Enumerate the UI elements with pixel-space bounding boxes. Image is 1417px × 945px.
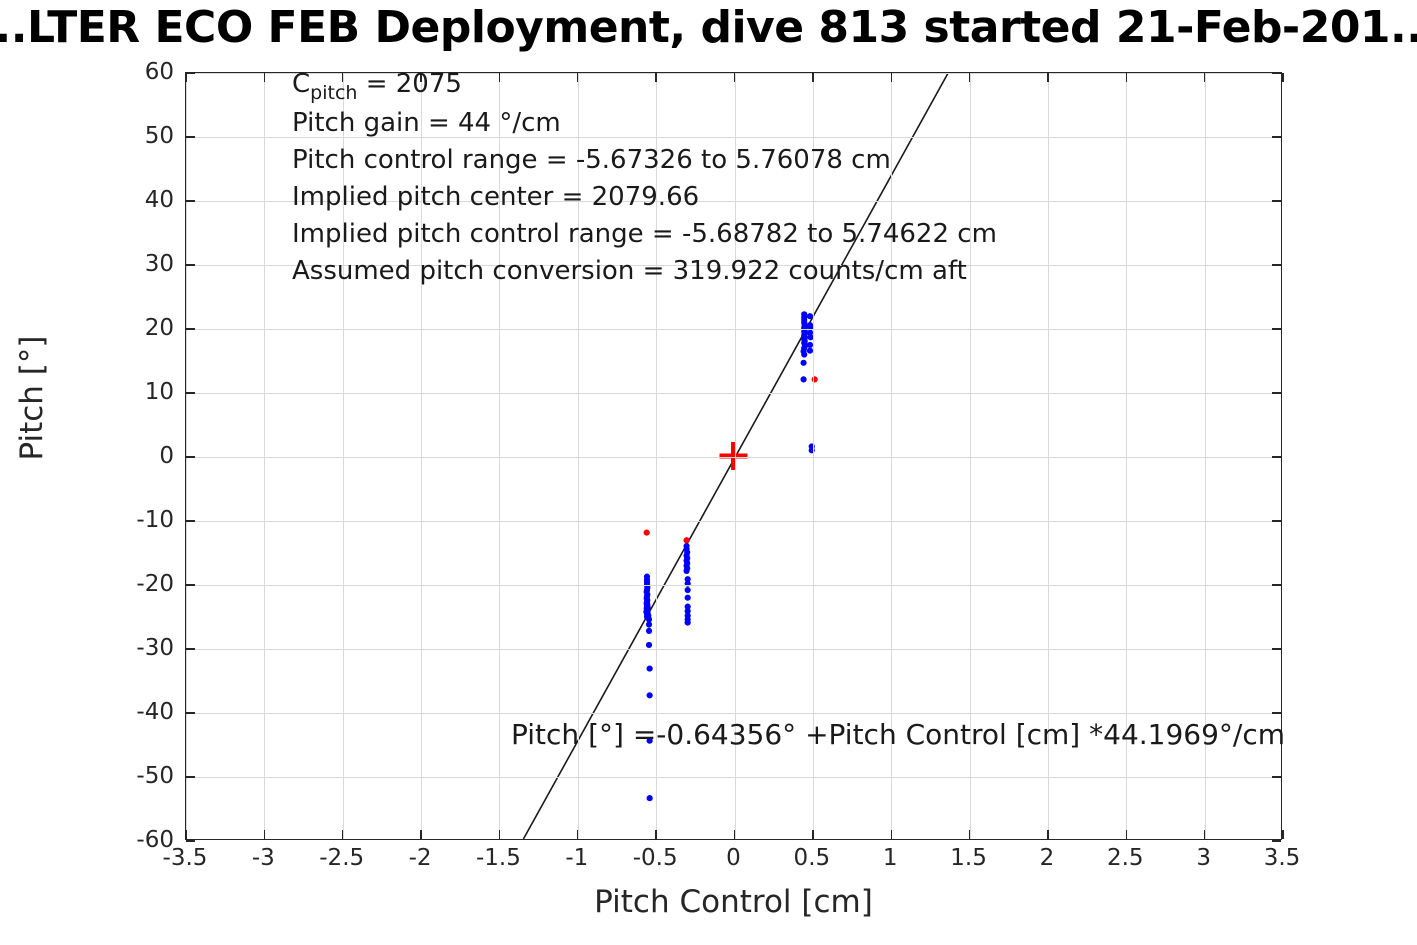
scatter-series: [643, 311, 815, 801]
y-axis-tick: [186, 328, 195, 329]
y-axis-tick-right: [1272, 456, 1281, 457]
x-axis-tick-label: 2.5: [1107, 845, 1144, 871]
y-axis-tick-label: 10: [145, 379, 174, 405]
y-axis-tick-label: 60: [145, 59, 174, 85]
y-gridline: [186, 777, 1281, 778]
y-axis-tick-label: -20: [136, 571, 174, 597]
plot-axes: [185, 72, 1282, 840]
y-axis-tick-label: 50: [145, 123, 174, 149]
x-axis-tick: [1126, 830, 1127, 839]
data-point: [683, 568, 689, 574]
x-axis-tick-top: [577, 73, 578, 82]
y-axis-tick-right: [1272, 584, 1281, 585]
data-point: [685, 587, 691, 593]
data-point: [646, 628, 652, 634]
data-point: [647, 665, 653, 671]
y-axis-tick: [186, 712, 195, 713]
y-gridline: [186, 585, 1281, 586]
x-axis-tick-label: 0: [726, 845, 741, 871]
pitch-center-marker: [720, 442, 748, 470]
y-axis-tick-label: 0: [159, 443, 174, 469]
x-axis-tick-top: [655, 73, 656, 82]
y-axis-label: Pitch [°]: [14, 98, 50, 698]
x-axis-tick-label: 1: [883, 845, 898, 871]
x-axis-tick-top: [969, 73, 970, 82]
x-axis-tick: [655, 830, 656, 839]
y-axis-tick: [186, 840, 195, 841]
y-gridline: [186, 649, 1281, 650]
x-axis-tick-label: 2: [1040, 845, 1055, 871]
x-axis-tick: [969, 830, 970, 839]
x-gridline: [499, 73, 500, 839]
data-point: [647, 738, 653, 744]
x-axis-tick: [891, 830, 892, 839]
data-point: [685, 620, 691, 626]
y-gridline: [186, 201, 1281, 202]
x-axis-tick: [577, 830, 578, 839]
data-point: [685, 595, 691, 601]
y-axis-tick-right: [1272, 200, 1281, 201]
figure-root: ...LTER ECO FEB Deployment, dive 813 sta…: [0, 0, 1417, 945]
y-axis-tick-right: [1272, 328, 1281, 329]
x-gridline: [421, 73, 422, 839]
y-axis-tick: [186, 136, 195, 137]
y-axis-tick-right: [1272, 648, 1281, 649]
x-axis-tick: [420, 830, 421, 839]
x-axis-tick-top: [891, 73, 892, 82]
data-point: [800, 376, 806, 382]
data-point: [647, 692, 653, 698]
x-axis-tick-label: -1: [565, 845, 588, 871]
x-axis-tick-label: -3: [252, 845, 275, 871]
x-axis-tick-top: [185, 73, 186, 82]
y-gridline: [186, 329, 1281, 330]
x-axis-tick-top: [734, 73, 735, 82]
x-axis-tick-top: [342, 73, 343, 82]
data-point: [647, 795, 653, 801]
x-axis-tick-top: [1126, 73, 1127, 82]
plot-area: [186, 73, 1281, 839]
y-axis-tick-right: [1272, 776, 1281, 777]
y-gridline: [186, 265, 1281, 266]
x-axis-tick: [342, 830, 343, 839]
x-axis-tick-label: 3: [1196, 845, 1211, 871]
x-axis-tick-label: 0.5: [794, 845, 831, 871]
y-axis-tick: [186, 648, 195, 649]
y-axis-tick: [186, 200, 195, 201]
x-axis-tick-top: [812, 73, 813, 82]
y-axis-tick-label: 30: [145, 251, 174, 277]
x-axis-tick-top: [1282, 73, 1283, 82]
x-axis-tick: [264, 830, 265, 839]
x-axis-tick-label: -1.5: [476, 845, 521, 871]
x-gridline: [891, 73, 892, 839]
data-point: [646, 621, 652, 627]
y-axis-tick-label: 40: [145, 187, 174, 213]
x-axis-tick: [185, 830, 186, 839]
x-axis-tick-top: [499, 73, 500, 82]
data-point: [800, 360, 806, 366]
x-axis-tick-top: [264, 73, 265, 82]
x-axis-tick-top: [420, 73, 421, 82]
x-gridline: [656, 73, 657, 839]
chart-title-container: ...LTER ECO FEB Deployment, dive 813 sta…: [0, 0, 1417, 62]
x-gridline: [264, 73, 265, 839]
x-gridline: [970, 73, 971, 839]
x-axis-tick-top: [1204, 73, 1205, 82]
y-gridline: [186, 713, 1281, 714]
x-axis-tick-label: 3.5: [1264, 845, 1301, 871]
y-axis-tick: [186, 520, 195, 521]
data-layer: [186, 73, 1281, 839]
x-axis-tick-top: [1047, 73, 1048, 82]
data-point: [683, 537, 689, 543]
y-gridline: [186, 457, 1281, 458]
y-axis-tick-right: [1272, 72, 1281, 73]
y-gridline: [186, 393, 1281, 394]
y-axis-tick-label: -40: [136, 699, 174, 725]
x-gridline: [1205, 73, 1206, 839]
x-axis-tick: [1282, 830, 1283, 839]
x-gridline: [813, 73, 814, 839]
x-axis-tick: [1204, 830, 1205, 839]
x-axis-tick-label: 1.5: [950, 845, 987, 871]
y-axis-tick: [186, 584, 195, 585]
data-point: [644, 530, 650, 536]
x-axis-tick: [499, 830, 500, 839]
y-axis-tick-right: [1272, 712, 1281, 713]
y-axis-tick-right: [1272, 520, 1281, 521]
y-axis-tick: [186, 264, 195, 265]
y-axis-tick-right: [1272, 264, 1281, 265]
data-point: [646, 642, 652, 648]
y-axis-tick: [186, 776, 195, 777]
y-axis-tick: [186, 72, 195, 73]
x-axis-tick: [812, 830, 813, 839]
x-axis-label: Pitch Control [cm]: [185, 884, 1282, 920]
x-gridline: [343, 73, 344, 839]
y-axis-tick-right: [1272, 136, 1281, 137]
y-axis-tick-label: -60: [136, 827, 174, 853]
y-axis-tick: [186, 456, 195, 457]
y-axis-tick-label: -30: [136, 635, 174, 661]
x-axis-tick-label: -2: [409, 845, 432, 871]
x-axis-tick-label: -2.5: [319, 845, 364, 871]
x-axis-tick-label: -0.5: [633, 845, 678, 871]
y-axis-tick-label: 20: [145, 315, 174, 341]
x-axis-tick: [734, 830, 735, 839]
page-title: ...LTER ECO FEB Deployment, dive 813 sta…: [0, 2, 1417, 54]
x-gridline: [1126, 73, 1127, 839]
y-gridline: [186, 137, 1281, 138]
y-gridline: [186, 521, 1281, 522]
x-gridline: [735, 73, 736, 839]
y-axis-tick: [186, 392, 195, 393]
y-axis-tick-label: -50: [136, 763, 174, 789]
y-axis-tick-right: [1272, 840, 1281, 841]
x-gridline: [578, 73, 579, 839]
y-axis-tick-label: -10: [136, 507, 174, 533]
y-axis-tick-right: [1272, 392, 1281, 393]
x-axis-tick: [1047, 830, 1048, 839]
x-gridline: [1048, 73, 1049, 839]
data-point: [801, 351, 807, 357]
data-point: [809, 447, 815, 453]
scatter-series: [644, 376, 818, 543]
